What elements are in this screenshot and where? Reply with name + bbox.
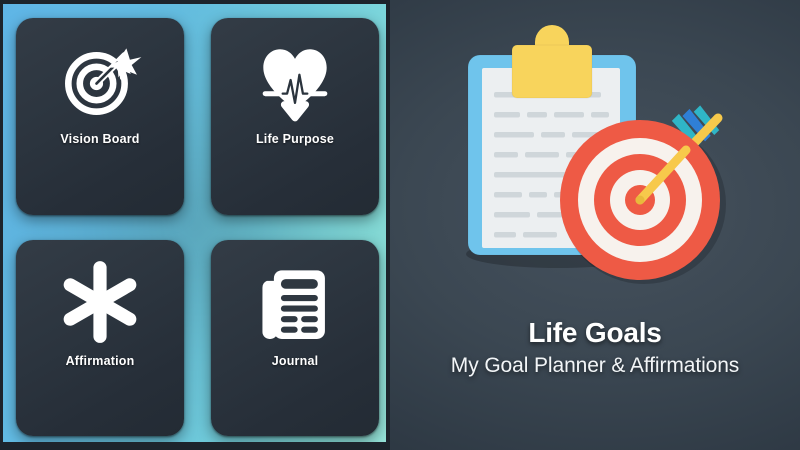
- feature-card-label: Life Purpose: [256, 133, 334, 146]
- app-title: Life Goals: [390, 318, 800, 347]
- feature-card-label: Journal: [272, 355, 319, 368]
- target-arrow-icon: [56, 36, 144, 124]
- feature-panel-frame: Vision Board Life Purpose: [0, 0, 390, 450]
- newspaper-document-icon: [251, 258, 339, 346]
- feature-card-vision-board[interactable]: Vision Board: [16, 18, 184, 215]
- clipboard-dartboard-illustration: [450, 22, 740, 312]
- feature-card-label: Vision Board: [60, 133, 139, 146]
- heart-pulse-arrow-icon: [251, 36, 339, 124]
- clipboard-clip: [512, 25, 592, 98]
- feature-card-affirmation[interactable]: Affirmation: [16, 240, 184, 437]
- feature-grid: Vision Board Life Purpose: [16, 18, 379, 436]
- title-block: Life Goals My Goal Planner & Affirmation…: [390, 318, 800, 377]
- hero-section: Life Goals My Goal Planner & Affirmation…: [390, 0, 800, 450]
- feature-card-label: Affirmation: [66, 355, 135, 368]
- feature-card-journal[interactable]: Journal: [211, 240, 379, 437]
- feature-panel: Vision Board Life Purpose: [3, 4, 386, 442]
- asterisk-star-icon: [56, 258, 144, 346]
- promo-banner: Vision Board Life Purpose: [0, 0, 800, 450]
- feature-card-life-purpose[interactable]: Life Purpose: [211, 18, 379, 215]
- app-subtitle: My Goal Planner & Affirmations: [390, 354, 800, 377]
